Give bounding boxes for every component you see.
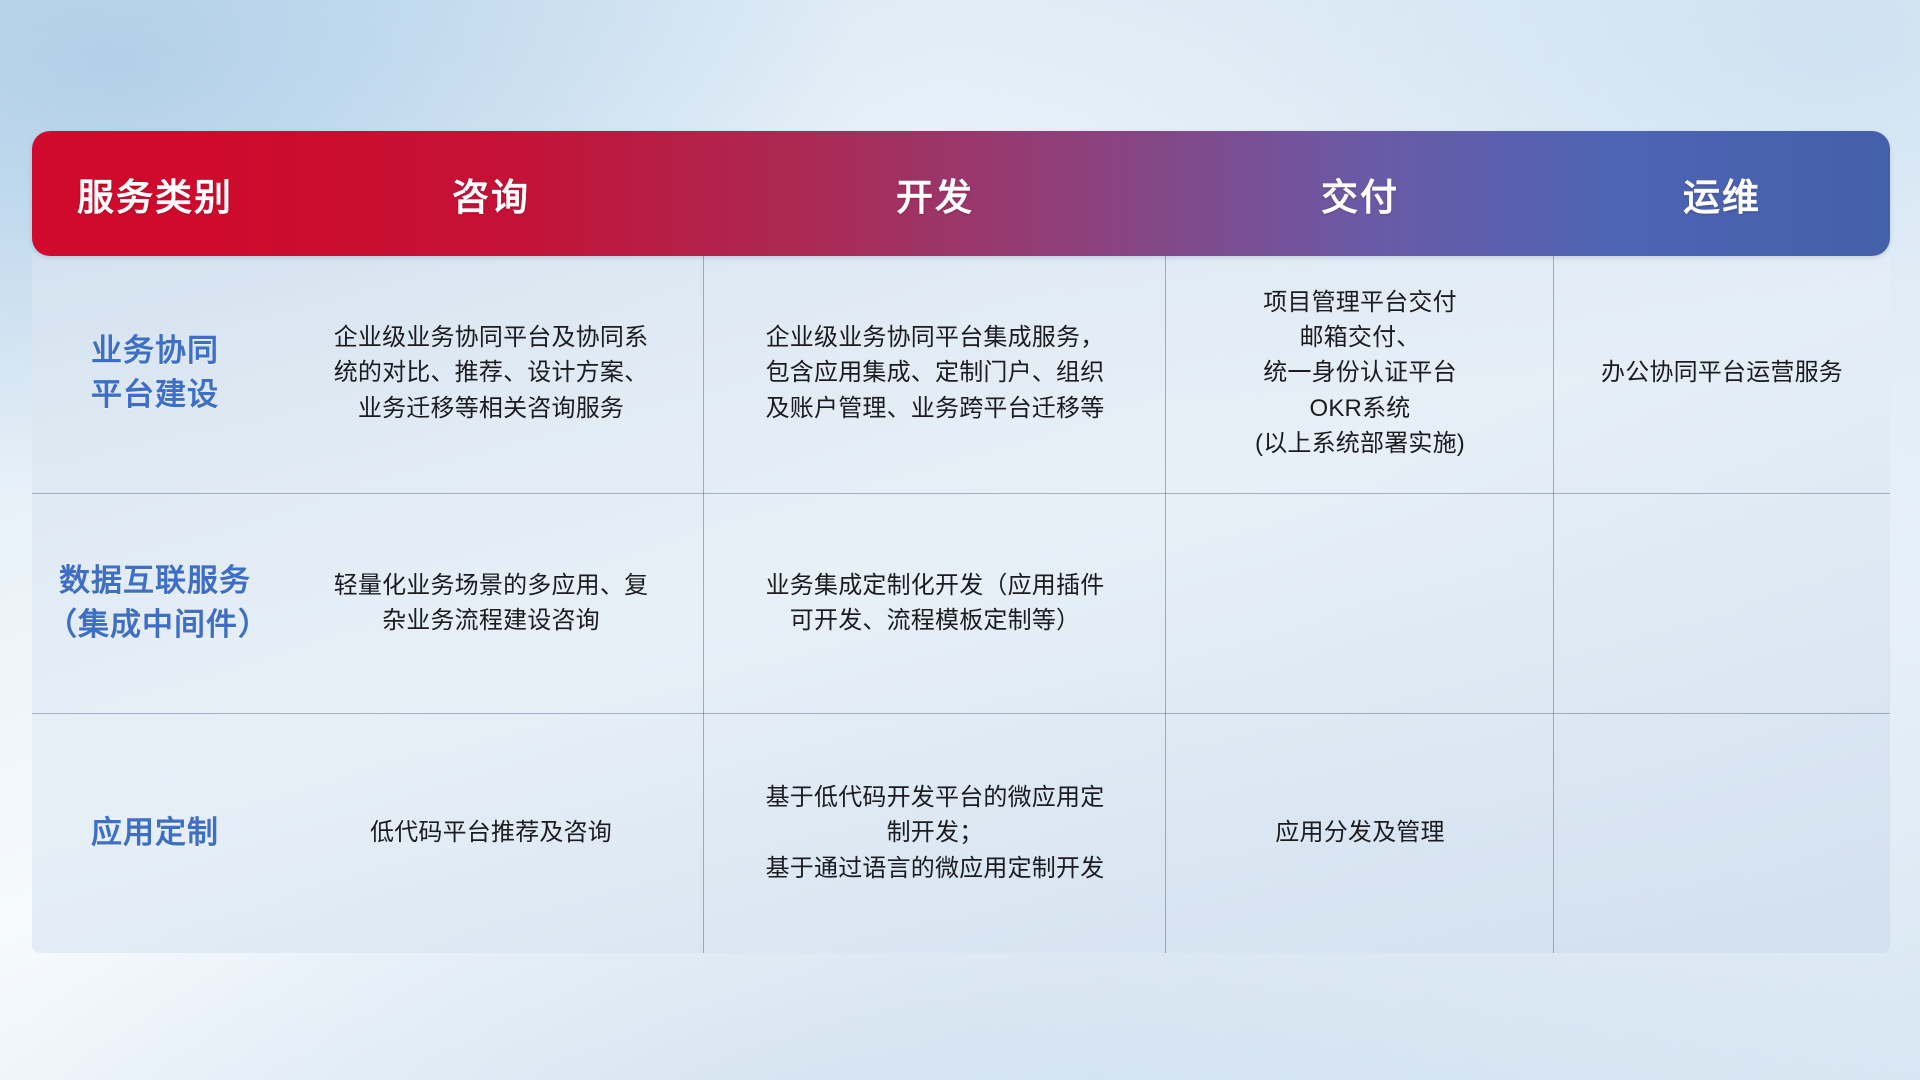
cell-development-text: 企业级业务协同平台集成服务， 包含应用集成、定制门户、组织 及账户管理、业务跨平… [766,320,1105,425]
cell-delivery-text: 项目管理平台交付 邮箱交付、 统一身份认证平台 OKR系统 (以上系统部署实施) [1255,285,1465,460]
cell-operations-text: 办公协同平台运营服务 [1601,355,1843,390]
cell-consulting-text: 轻量化业务场景的多应用、复 杂业务流程建设咨询 [334,568,649,638]
row-category-cell: 数据互联服务 （集成中间件） [32,493,278,713]
cell-development: 基于低代码开发平台的微应用定 制开发； 基于通过语言的微应用定制开发 [704,713,1166,953]
column-header-delivery: 交付 [1166,131,1554,256]
cell-operations [1554,713,1890,953]
cell-operations [1554,493,1890,713]
column-header-operations: 运维 [1554,131,1890,256]
column-header-category-label: 服务类别 [77,167,233,221]
cell-delivery: 应用分发及管理 [1166,713,1554,953]
cell-development: 业务集成定制化开发（应用插件 可开发、流程模板定制等） [704,493,1166,713]
column-header-delivery-label: 交付 [1321,167,1399,221]
table-row: 业务协同 平台建设 企业级业务协同平台及协同系 统的对比、推荐、设计方案、 业务… [32,253,1890,493]
column-header-operations-label: 运维 [1683,167,1761,221]
cell-development-text: 基于低代码开发平台的微应用定 制开发； 基于通过语言的微应用定制开发 [766,780,1105,885]
cell-consulting: 低代码平台推荐及咨询 [278,713,704,953]
row-category-label: 应用定制 [91,811,219,855]
cell-consulting: 企业级业务协同平台及协同系 统的对比、推荐、设计方案、 业务迁移等相关咨询服务 [278,253,704,493]
row-category-cell: 应用定制 [32,713,278,953]
column-header-development-label: 开发 [896,167,974,221]
column-header-development: 开发 [704,131,1166,256]
cell-development: 企业级业务协同平台集成服务， 包含应用集成、定制门户、组织 及账户管理、业务跨平… [704,253,1166,493]
cell-consulting-text: 企业级业务协同平台及协同系 统的对比、推荐、设计方案、 业务迁移等相关咨询服务 [334,320,649,425]
table-header-row: 服务类别 咨询 开发 交付 运维 [32,131,1890,256]
row-category-label: 业务协同 平台建设 [91,329,219,417]
row-category-label: 数据互联服务 （集成中间件） [46,559,264,647]
service-matrix-table: 服务类别 咨询 开发 交付 运维 业务协同 平台建设 [32,131,1890,956]
cell-delivery [1166,493,1554,713]
column-header-category: 服务类别 [32,131,278,256]
table-row: 应用定制 低代码平台推荐及咨询 基于低代码开发平台的微应用定 制开发； 基于通过… [32,713,1890,953]
cell-delivery: 项目管理平台交付 邮箱交付、 统一身份认证平台 OKR系统 (以上系统部署实施) [1166,253,1554,493]
column-header-consulting-label: 咨询 [452,167,530,221]
table-body: 业务协同 平台建设 企业级业务协同平台及协同系 统的对比、推荐、设计方案、 业务… [32,253,1890,953]
column-header-consulting: 咨询 [278,131,704,256]
cell-development-text: 业务集成定制化开发（应用插件 可开发、流程模板定制等） [766,568,1105,638]
table-row: 数据互联服务 （集成中间件） 轻量化业务场景的多应用、复 杂业务流程建设咨询 业… [32,493,1890,713]
cell-consulting-text: 低代码平台推荐及咨询 [370,815,612,850]
slide-canvas: 服务类别 咨询 开发 交付 运维 业务协同 平台建设 [0,0,1920,1080]
cell-consulting: 轻量化业务场景的多应用、复 杂业务流程建设咨询 [278,493,704,713]
cell-operations: 办公协同平台运营服务 [1554,253,1890,493]
cell-delivery-text: 应用分发及管理 [1275,815,1444,850]
row-category-cell: 业务协同 平台建设 [32,253,278,493]
